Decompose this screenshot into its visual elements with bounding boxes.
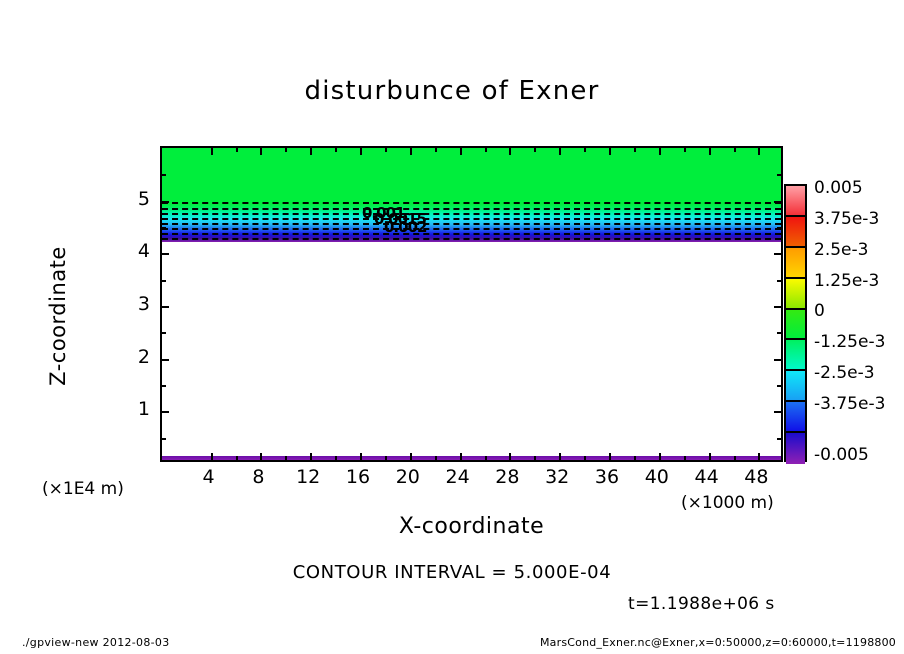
x-tick-minor [385,456,387,460]
plot-area: 0.001 0.0015 0.002 [160,146,783,462]
x-tick-major [211,453,213,460]
field-region-blank [162,242,781,456]
contour-interval-annotation: CONTOUR INTERVAL = 5.000E-04 [0,562,904,583]
x-tick-minor [584,456,586,460]
y-tick-right-major [774,253,781,255]
colorbar-tick-label: -2.5e-3 [814,363,875,383]
colorbar-tick-label: -1.25e-3 [814,332,885,352]
colorbar-band [786,186,805,217]
colorbar-tick-label: 2.5e-3 [814,240,868,260]
x-tick-minor [734,456,736,460]
x-tick-top-major [559,148,561,155]
x-tick-major [559,453,561,460]
y-tick-right-major [774,306,781,308]
contour-label: 0.002 [384,218,426,236]
x-tick-label: 20 [396,466,420,488]
x-tick-label: 4 [203,466,215,488]
x-tick-minor [684,456,686,460]
colorbar-band [786,248,805,279]
colorbar-band [786,310,805,341]
x-tick-major [260,453,262,460]
y-tick-label: 5 [120,188,150,210]
y-tick-right-major [774,411,781,413]
x-tick-top-major [410,148,412,155]
time-annotation: t=1.1988e+06 s [628,594,775,614]
field-region-surface [162,456,781,462]
colorbar-band [786,433,805,464]
x-tick-top-major [509,148,511,155]
colorbar [784,184,807,462]
x-tick-label: 40 [645,466,669,488]
x-tick-major [709,453,711,460]
x-tick-top-minor [534,148,536,152]
x-tick-label: 16 [346,466,370,488]
x-tick-major [659,453,661,460]
y-tick-right-minor [777,438,781,440]
x-tick-label: 48 [744,466,768,488]
x-tick-top-major [211,148,213,155]
x-tick-top-major [709,148,711,155]
x-tick-minor [236,456,238,460]
colorbar-band [786,402,805,433]
y-tick-minor [162,174,166,176]
x-tick-top-minor [584,148,586,152]
x-tick-major [509,453,511,460]
y-tick-right-minor [777,174,781,176]
y-tick-major [162,306,169,308]
x-tick-minor [534,456,536,460]
y-tick-major [162,411,169,413]
x-tick-top-major [758,148,760,155]
x-tick-major [310,453,312,460]
y-axis-label: Z-coordinate [46,216,70,416]
field-region-gradient [162,204,781,242]
colorbar-tick-label: 3.75e-3 [814,209,879,229]
x-tick-top-minor [385,148,387,152]
x-tick-label: 36 [595,466,619,488]
x-tick-label: 28 [495,466,519,488]
x-tick-major [758,453,760,460]
x-tick-label: 44 [695,466,719,488]
x-tick-top-minor [285,148,287,152]
y-tick-right-minor [777,332,781,334]
x-tick-label: 12 [296,466,320,488]
x-tick-top-minor [634,148,636,152]
colorbar-tick-label: 0 [814,301,825,321]
field-region-green [162,148,781,204]
x-tick-label: 24 [446,466,470,488]
x-tick-minor [435,456,437,460]
colorbar-tick-label: 1.25e-3 [814,271,879,291]
x-tick-minor [485,456,487,460]
y-tick-minor [162,280,166,282]
x-tick-major [360,453,362,460]
x-tick-top-major [460,148,462,155]
x-tick-top-minor [435,148,437,152]
x-tick-label: 8 [252,466,264,488]
x-tick-top-minor [684,148,686,152]
x-tick-top-major [609,148,611,155]
page-title: disturbunce of Exner [0,76,904,106]
y-tick-label: 2 [120,346,150,368]
x-tick-top-major [260,148,262,155]
colorbar-tick-label: -3.75e-3 [814,394,885,414]
x-tick-minor [285,456,287,460]
y-tick-right-minor [777,385,781,387]
x-tick-major [410,453,412,460]
x-tick-major [460,453,462,460]
x-tick-major [609,453,611,460]
x-tick-top-minor [734,148,736,152]
y-axis-unit-label: (×1E4 m) [42,479,124,499]
y-tick-minor [162,438,166,440]
y-tick-right-major [774,201,781,203]
x-axis-label: X-coordinate [160,514,783,539]
colorbar-band [786,340,805,371]
y-tick-label: 3 [120,293,150,315]
x-tick-top-minor [485,148,487,152]
y-tick-major [162,359,169,361]
x-tick-top-minor [236,148,238,152]
colorbar-band [786,217,805,248]
colorbar-tick-label: -0.005 [814,445,869,465]
y-tick-major [162,253,169,255]
x-tick-minor [335,456,337,460]
y-tick-right-minor [777,280,781,282]
y-tick-right-minor [777,227,781,229]
footer-command: ./gpview-new 2012-08-03 [22,636,170,649]
footer-dataset-info: MarsCond_Exner.nc@Exner,x=0:50000,z=0:60… [540,636,896,649]
y-tick-label: 1 [120,398,150,420]
x-tick-top-major [360,148,362,155]
x-tick-top-major [310,148,312,155]
colorbar-band [786,279,805,310]
y-tick-minor [162,385,166,387]
y-tick-major [162,201,169,203]
y-tick-right-major [774,359,781,361]
x-axis-unit-label: (×1000 m) [681,493,774,513]
y-tick-minor [162,332,166,334]
x-tick-top-major [659,148,661,155]
y-tick-label: 4 [120,240,150,262]
y-tick-minor [162,227,166,229]
colorbar-band [786,371,805,402]
x-tick-top-minor [335,148,337,152]
x-tick-label: 32 [545,466,569,488]
x-tick-minor [634,456,636,460]
colorbar-tick-label: 0.005 [814,178,863,198]
